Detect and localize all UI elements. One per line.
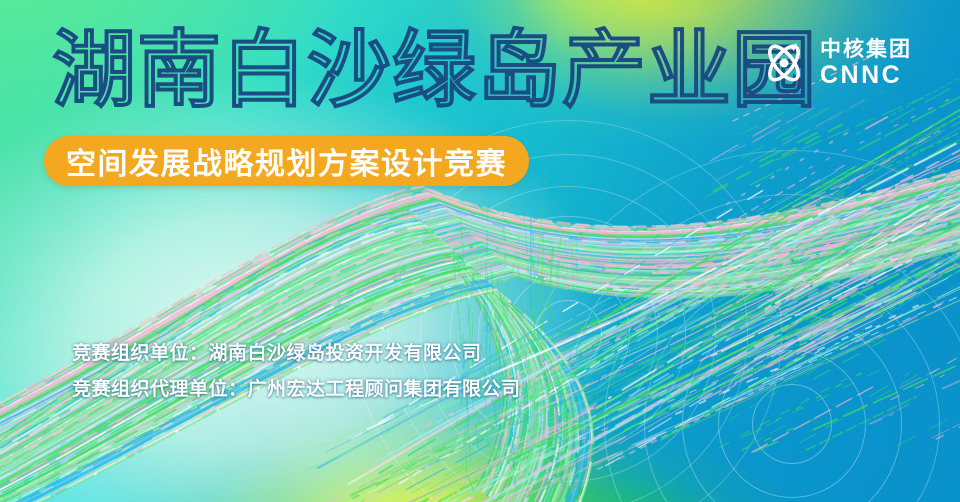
organizer-block: 竞赛组织单位：湖南白沙绿岛投资开发有限公司 竞赛组织代理单位：广州宏达工程顾问集… — [72, 338, 521, 401]
banner-content: 湖南白沙绿岛产业园 空间发展战略规划方案设计竞赛 竞赛组织单位：湖南白沙绿岛投资… — [0, 0, 960, 502]
poster-banner: 湖南白沙绿岛产业园 空间发展战略规划方案设计竞赛 竞赛组织单位：湖南白沙绿岛投资… — [0, 0, 960, 502]
page-title: 湖南白沙绿岛产业园 — [52, 28, 817, 112]
organizer-line-1: 竞赛组织单位：湖南白沙绿岛投资开发有限公司 — [72, 338, 521, 365]
organizer-line-2: 竞赛组织代理单位：广州宏达工程顾问集团有限公司 — [72, 374, 521, 401]
subtitle-pill: 空间发展战略规划方案设计竞赛 — [44, 136, 529, 186]
cnnc-logo: 中核集团 CNNC — [759, 38, 912, 88]
atom-nucleus — [780, 59, 789, 68]
logo-wordmark: 中核集团 CNNC — [820, 39, 912, 88]
logo-chinese-name: 中核集团 — [820, 39, 912, 60]
subtitle-text: 空间发展战略规划方案设计竞赛 — [66, 139, 507, 183]
logo-english-name: CNNC — [820, 63, 912, 88]
atom-icon — [759, 38, 809, 88]
